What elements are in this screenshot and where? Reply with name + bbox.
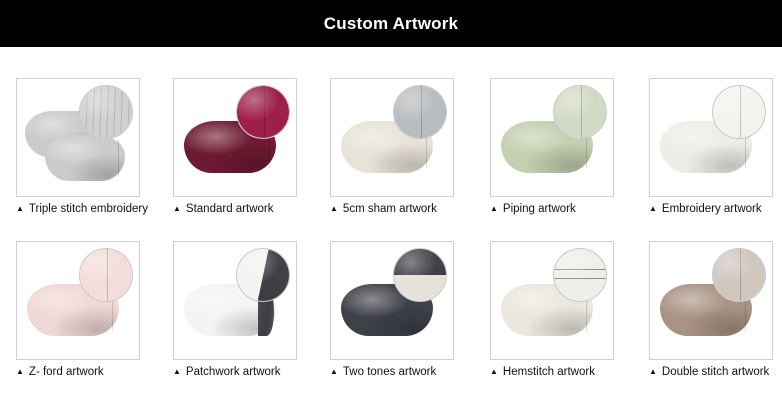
- magnifier-detail-circle: [236, 248, 290, 302]
- pillow-shape-front: [45, 135, 125, 181]
- artwork-thumbnail[interactable]: [330, 78, 454, 197]
- artwork-card[interactable]: ▲ Patchwork artwork: [173, 241, 297, 360]
- artwork-card[interactable]: ▲ Hemstitch artwork: [490, 241, 614, 360]
- artwork-thumbnail[interactable]: [649, 241, 773, 360]
- pillow-seam: [118, 140, 119, 177]
- triangle-bullet-icon: ▲: [649, 205, 657, 213]
- artwork-label: Hemstitch artwork: [503, 367, 595, 379]
- artwork-thumbnail[interactable]: [16, 241, 140, 360]
- magnifier-gloss: [394, 86, 446, 138]
- artwork-label: 5cm sham artwork: [343, 204, 437, 216]
- magnifier-detail-circle: [553, 85, 607, 139]
- magnifier-detail-circle: [712, 248, 766, 302]
- artwork-caption: ▲ Standard artwork: [173, 204, 303, 216]
- artwork-thumbnail[interactable]: [490, 241, 614, 360]
- triangle-bullet-icon: ▲: [173, 368, 181, 376]
- artwork-thumbnail[interactable]: [173, 78, 297, 197]
- artwork-card[interactable]: ▲ Embroidery artwork: [649, 78, 773, 197]
- magnifier-gloss: [237, 249, 289, 301]
- artwork-caption: ▲ Double stitch artwork: [649, 367, 779, 379]
- magnifier-gloss: [237, 86, 289, 138]
- magnifier-gloss: [394, 249, 446, 301]
- triangle-bullet-icon: ▲: [490, 368, 498, 376]
- magnifier-gloss: [80, 86, 132, 138]
- artwork-card[interactable]: ▲ Two tones artwork: [330, 241, 454, 360]
- artwork-caption: ▲ Triple stitch embroidery: [16, 204, 146, 216]
- artwork-thumbnail[interactable]: [16, 78, 140, 197]
- magnifier-detail-circle: [712, 85, 766, 139]
- artwork-thumbnail[interactable]: [330, 241, 454, 360]
- triangle-bullet-icon: ▲: [173, 205, 181, 213]
- artwork-label: Two tones artwork: [343, 367, 436, 379]
- magnifier-detail-circle: [553, 248, 607, 302]
- artwork-label: Patchwork artwork: [186, 367, 281, 379]
- triangle-bullet-icon: ▲: [330, 205, 338, 213]
- artwork-label: Z- ford artwork: [29, 367, 104, 379]
- artwork-label: Piping artwork: [503, 204, 576, 216]
- artwork-caption: ▲ Z- ford artwork: [16, 367, 146, 379]
- artwork-thumbnail[interactable]: [490, 78, 614, 197]
- triangle-bullet-icon: ▲: [16, 205, 24, 213]
- page-header-banner: Custom Artwork: [0, 0, 782, 47]
- artwork-label: Embroidery artwork: [662, 204, 762, 216]
- magnifier-detail-circle: [393, 85, 447, 139]
- magnifier-detail-circle: [393, 248, 447, 302]
- artwork-card[interactable]: ▲ Piping artwork: [490, 78, 614, 197]
- magnifier-detail-circle: [236, 85, 290, 139]
- triangle-bullet-icon: ▲: [16, 368, 24, 376]
- magnifier-gloss: [713, 86, 765, 138]
- artwork-label: Standard artwork: [186, 204, 274, 216]
- magnifier-detail-circle: [79, 85, 133, 139]
- artwork-caption: ▲ Two tones artwork: [330, 367, 460, 379]
- triangle-bullet-icon: ▲: [330, 368, 338, 376]
- magnifier-gloss: [713, 249, 765, 301]
- artwork-caption: ▲ Hemstitch artwork: [490, 367, 620, 379]
- triangle-bullet-icon: ▲: [490, 205, 498, 213]
- magnifier-gloss: [554, 86, 606, 138]
- custom-artwork-page: Custom Artwork: [0, 0, 782, 409]
- artwork-row: ▲ Triple stitch embroidery: [0, 78, 782, 242]
- magnifier-gloss: [554, 249, 606, 301]
- artwork-caption: ▲ Piping artwork: [490, 204, 620, 216]
- artwork-card[interactable]: ▲ Standard artwork: [173, 78, 297, 197]
- artwork-caption: ▲ Patchwork artwork: [173, 367, 303, 379]
- magnifier-gloss: [80, 249, 132, 301]
- artwork-row: ▲ Z- ford artwork: [0, 241, 782, 405]
- artwork-card[interactable]: ▲ 5cm sham artwork: [330, 78, 454, 197]
- artwork-label: Double stitch artwork: [662, 367, 769, 379]
- artwork-thumbnail[interactable]: [173, 241, 297, 360]
- pillow-sheen: [45, 135, 125, 181]
- artwork-grid: ▲ Triple stitch embroidery: [0, 47, 782, 409]
- artwork-caption: ▲ Embroidery artwork: [649, 204, 779, 216]
- artwork-caption: ▲ 5cm sham artwork: [330, 204, 460, 216]
- artwork-card[interactable]: ▲ Triple stitch embroidery: [16, 78, 140, 197]
- artwork-card[interactable]: ▲ Z- ford artwork: [16, 241, 140, 360]
- artwork-label: Triple stitch embroidery: [29, 204, 148, 216]
- artwork-card[interactable]: ▲ Double stitch artwork: [649, 241, 773, 360]
- artwork-thumbnail[interactable]: [649, 78, 773, 197]
- magnifier-detail-circle: [79, 248, 133, 302]
- page-title: Custom Artwork: [324, 15, 458, 32]
- triangle-bullet-icon: ▲: [649, 368, 657, 376]
